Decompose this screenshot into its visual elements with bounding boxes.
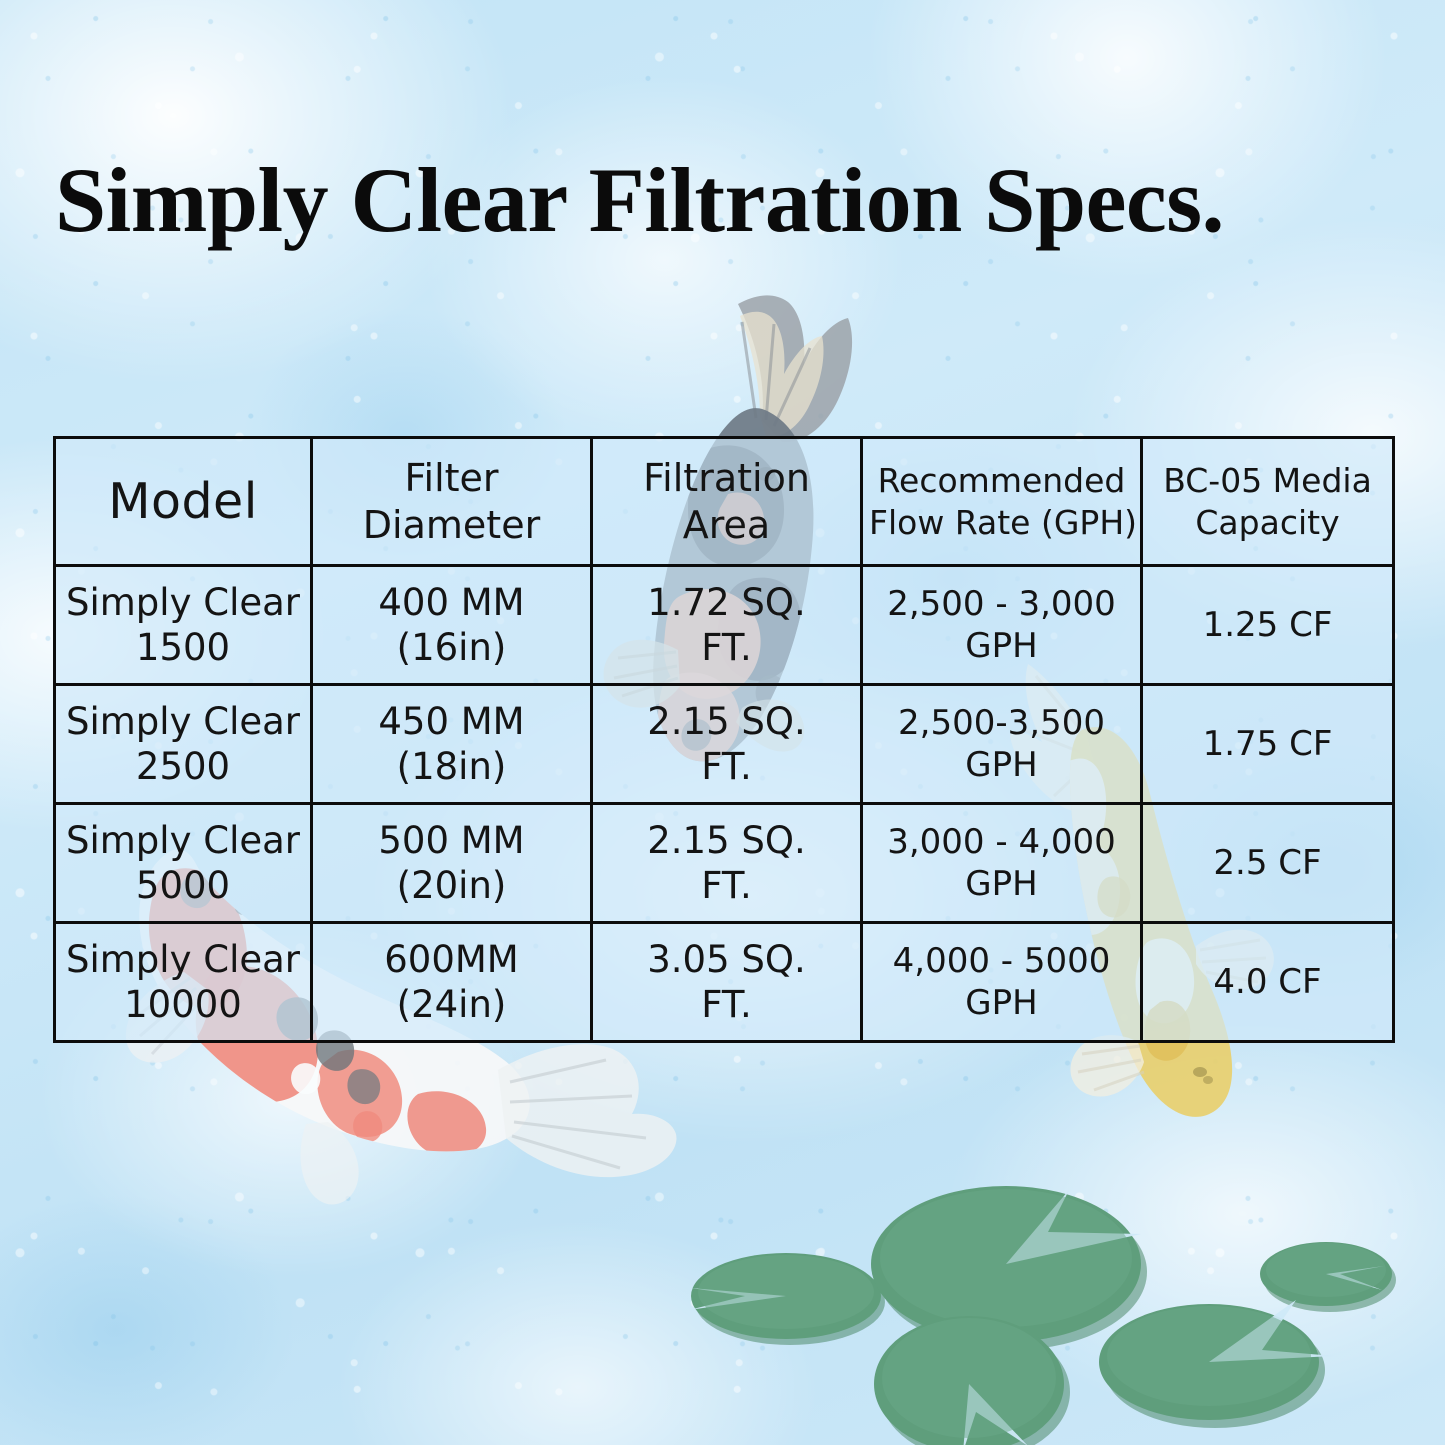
column-header-filter-diameter-line1: Filter [319, 455, 584, 501]
column-header-media-capacity-line2: Capacity [1149, 502, 1386, 543]
column-header-flow-rate-line1: Recommended [869, 460, 1134, 501]
cell-filtration-area-line1: 2.15 SQ. [599, 699, 854, 744]
cell-model-line1: Simply Clear [62, 699, 304, 744]
cell-flow-rate-line2: GPH [869, 863, 1134, 905]
table-row: Simply Clear 2500 450 MM (18in) 2.15 SQ.… [55, 685, 1394, 804]
cell-filtration-area: 2.15 SQ. FT. [592, 804, 862, 923]
cell-model-line1: Simply Clear [62, 580, 304, 625]
cell-model-line2: 2500 [62, 744, 304, 789]
page-title: Simply Clear Filtration Specs. [55, 152, 1224, 249]
cell-flow-rate-line1: 3,000 - 4,000 [869, 821, 1134, 863]
cell-filtration-area: 3.05 SQ. FT. [592, 923, 862, 1042]
cell-filter-diameter-line1: 400 MM [319, 580, 584, 625]
cell-model-line2: 1500 [62, 625, 304, 670]
column-header-media-capacity-line1: BC-05 Media [1149, 460, 1386, 501]
cell-model: Simply Clear 1500 [55, 566, 312, 685]
cell-filter-diameter-line2: (16in) [319, 625, 584, 670]
cell-model: Simply Clear 10000 [55, 923, 312, 1042]
cell-flow-rate: 2,500 - 3,000 GPH [862, 566, 1142, 685]
cell-flow-rate: 4,000 - 5000 GPH [862, 923, 1142, 1042]
cell-flow-rate-line2: GPH [869, 744, 1134, 786]
cell-filter-diameter-line2: (18in) [319, 744, 584, 789]
cell-flow-rate-line1: 2,500 - 3,000 [869, 583, 1134, 625]
table-header: Model Filter Diameter Filtration Area Re… [55, 438, 1394, 566]
cell-filter-diameter: 400 MM (16in) [312, 566, 592, 685]
cell-filtration-area: 1.72 SQ. FT. [592, 566, 862, 685]
table-row: Simply Clear 10000 600MM (24in) 3.05 SQ.… [55, 923, 1394, 1042]
table-header-row: Model Filter Diameter Filtration Area Re… [55, 438, 1394, 566]
column-header-flow-rate: Recommended Flow Rate (GPH) [862, 438, 1142, 566]
cell-filtration-area-line1: 3.05 SQ. [599, 937, 854, 982]
cell-filter-diameter-line1: 450 MM [319, 699, 584, 744]
cell-filtration-area-line2: FT. [599, 744, 854, 789]
lily-pad-small-left [689, 1253, 885, 1345]
column-header-filtration-area-line1: Filtration [599, 455, 854, 501]
lily-pad-small-right [1260, 1242, 1396, 1312]
cell-flow-rate-line1: 4,000 - 5000 [869, 940, 1134, 982]
cell-filtration-area: 2.15 SQ. FT. [592, 685, 862, 804]
cell-media-capacity: 1.75 CF [1142, 685, 1394, 804]
cell-filtration-area-line2: FT. [599, 863, 854, 908]
cell-filtration-area-line1: 1.72 SQ. [599, 580, 854, 625]
cell-flow-rate: 3,000 - 4,000 GPH [862, 804, 1142, 923]
cell-filter-diameter-line2: (20in) [319, 863, 584, 908]
cell-flow-rate: 2,500-3,500 GPH [862, 685, 1142, 804]
column-header-filter-diameter: Filter Diameter [312, 438, 592, 566]
cell-model: Simply Clear 5000 [55, 804, 312, 923]
lily-pad-medium-bottom-right [1099, 1300, 1334, 1428]
cell-model-line1: Simply Clear [62, 937, 304, 982]
cell-model-line1: Simply Clear [62, 818, 304, 863]
cell-filtration-area-line2: FT. [599, 625, 854, 670]
cell-media-capacity: 2.5 CF [1142, 804, 1394, 923]
column-header-filter-diameter-line2: Diameter [319, 502, 584, 548]
cell-filter-diameter-line1: 600MM [319, 937, 584, 982]
cell-filter-diameter: 450 MM (18in) [312, 685, 592, 804]
table-body: Simply Clear 1500 400 MM (16in) 1.72 SQ.… [55, 566, 1394, 1042]
cell-media-capacity: 1.25 CF [1142, 566, 1394, 685]
cell-filtration-area-line1: 2.15 SQ. [599, 818, 854, 863]
poster-canvas: Simply Clear Filtration Specs. Model Fil… [0, 0, 1445, 1445]
cell-filter-diameter: 600MM (24in) [312, 923, 592, 1042]
column-header-media-capacity: BC-05 Media Capacity [1142, 438, 1394, 566]
cell-flow-rate-line1: 2,500-3,500 [869, 702, 1134, 744]
cell-filter-diameter-line2: (24in) [319, 982, 584, 1027]
table-row: Simply Clear 5000 500 MM (20in) 2.15 SQ.… [55, 804, 1394, 923]
cell-filter-diameter: 500 MM (20in) [312, 804, 592, 923]
cell-media-capacity: 4.0 CF [1142, 923, 1394, 1042]
cell-flow-rate-line2: GPH [869, 625, 1134, 667]
column-header-model: Model [55, 438, 312, 566]
cell-filter-diameter-line1: 500 MM [319, 818, 584, 863]
column-header-filtration-area-line2: Area [599, 502, 854, 548]
cell-model: Simply Clear 2500 [55, 685, 312, 804]
column-header-filtration-area: Filtration Area [592, 438, 862, 566]
column-header-flow-rate-line2: Flow Rate (GPH) [869, 502, 1134, 543]
filtration-specs-table: Model Filter Diameter Filtration Area Re… [53, 436, 1395, 1043]
cell-model-line2: 5000 [62, 863, 304, 908]
cell-model-line2: 10000 [62, 982, 304, 1027]
cell-filtration-area-line2: FT. [599, 982, 854, 1027]
cell-flow-rate-line2: GPH [869, 982, 1134, 1024]
table-row: Simply Clear 1500 400 MM (16in) 1.72 SQ.… [55, 566, 1394, 685]
